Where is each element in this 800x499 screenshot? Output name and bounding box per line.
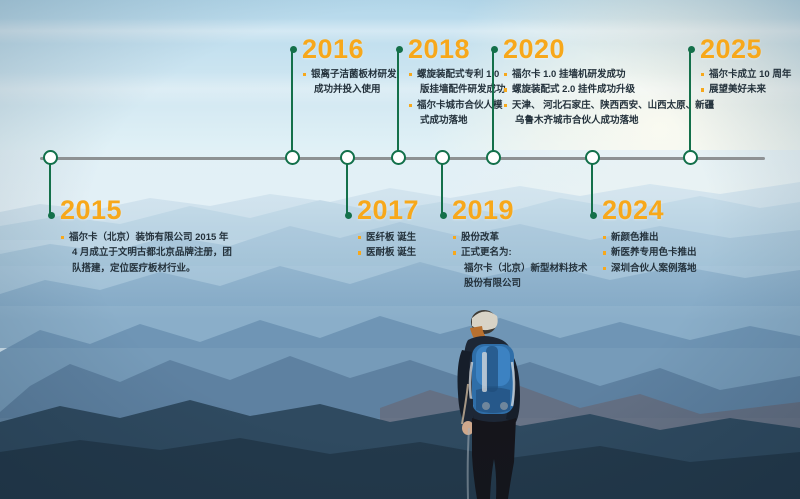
fact-item: 展望美好未来: [700, 82, 791, 97]
node-marker-ring[interactable]: [285, 150, 300, 165]
node-marker-ring[interactable]: [43, 150, 58, 165]
year-label-2016: 2016: [302, 36, 364, 63]
node-marker-ring[interactable]: [585, 150, 600, 165]
node-stem: [291, 50, 293, 158]
node-stem: [441, 158, 443, 215]
fact-line: 深圳合伙人案例落地: [611, 263, 697, 274]
fact-line: 4 月成立于文明古都北京品牌注册，团: [69, 245, 232, 260]
year-label-2020: 2020: [503, 36, 565, 63]
fact-list-2016: 银离子洁菌板材研发成功并投入使用: [302, 67, 397, 98]
fact-line: 股份改革: [461, 232, 499, 243]
fact-line: 福尔卡 1.0 挂墙机研发成功: [512, 69, 626, 80]
node-endpoint-dot: [48, 212, 55, 219]
fact-list-2020: 福尔卡 1.0 挂墙机研发成功螺旋装配式 2.0 挂件成功升级天津、 河北石家庄…: [503, 67, 714, 129]
fact-item: 正式更名为:福尔卡（北京）新型材料技术股份有限公司: [452, 245, 588, 291]
year-label-2024: 2024: [602, 197, 664, 224]
fact-line: 医纤板 诞生: [366, 232, 416, 243]
node-endpoint-dot: [345, 212, 352, 219]
node-stem: [689, 50, 691, 158]
fact-item: 医纤板 诞生: [357, 230, 416, 245]
year-label-2025: 2025: [700, 36, 762, 63]
node-endpoint-dot: [688, 46, 695, 53]
fact-line: 螺旋装配式专利 1.0: [417, 69, 499, 80]
node-endpoint-dot: [440, 212, 447, 219]
fact-line: 天津、 河北石家庄、陕西西安、山西太原、新疆: [512, 100, 714, 111]
fact-line: 新医养专用色卡推出: [611, 247, 697, 258]
node-marker-ring[interactable]: [683, 150, 698, 165]
fact-line: 成功并投入使用: [311, 82, 397, 97]
fact-line: 展望美好未来: [709, 84, 766, 95]
fact-line: 螺旋装配式 2.0 挂件成功升级: [512, 84, 635, 95]
fact-line: 福尔卡城市合伙人模: [417, 100, 503, 111]
node-marker-ring[interactable]: [340, 150, 355, 165]
year-label-2015: 2015: [60, 197, 122, 224]
fact-list-2018: 螺旋装配式专利 1.0版挂墙配件研发成功福尔卡城市合伙人模式成功落地: [408, 67, 506, 129]
fact-item: 新颜色推出: [602, 230, 697, 245]
year-label-2019: 2019: [452, 197, 514, 224]
node-marker-ring[interactable]: [435, 150, 450, 165]
fact-item: 福尔卡（北京）装饰有限公司 2015 年4 月成立于文明古都北京品牌注册，团队搭…: [60, 230, 232, 276]
fact-item: 深圳合伙人案例落地: [602, 261, 697, 276]
fact-list-2019: 股份改革正式更名为:福尔卡（北京）新型材料技术股份有限公司: [452, 230, 588, 292]
fact-line: 股份有限公司: [461, 276, 588, 291]
fact-list-2015: 福尔卡（北京）装饰有限公司 2015 年4 月成立于文明古都北京品牌注册，团队搭…: [60, 230, 232, 276]
fact-item: 福尔卡城市合伙人模式成功落地: [408, 98, 506, 129]
fact-item: 福尔卡 1.0 挂墙机研发成功: [503, 67, 714, 82]
node-endpoint-dot: [491, 46, 498, 53]
fact-line: 福尔卡成立 10 周年: [709, 69, 791, 80]
node-stem: [397, 50, 399, 158]
year-label-2018: 2018: [408, 36, 470, 63]
fact-item: 医耐板 诞生: [357, 245, 416, 260]
fact-line: 福尔卡（北京）装饰有限公司 2015 年: [69, 232, 228, 243]
fact-item: 新医养专用色卡推出: [602, 245, 697, 260]
node-stem: [591, 158, 593, 215]
node-marker-ring[interactable]: [486, 150, 501, 165]
node-endpoint-dot: [590, 212, 597, 219]
fact-list-2017: 医纤板 诞生医耐板 诞生: [357, 230, 416, 261]
node-endpoint-dot: [290, 46, 297, 53]
fact-item: 天津、 河北石家庄、陕西西安、山西太原、新疆乌鲁木齐城市合伙人成功落地: [503, 98, 714, 129]
fact-list-2024: 新颜色推出新医养专用色卡推出深圳合伙人案例落地: [602, 230, 697, 276]
year-label-2017: 2017: [357, 197, 419, 224]
node-marker-ring[interactable]: [391, 150, 406, 165]
node-stem: [49, 158, 51, 215]
node-endpoint-dot: [396, 46, 403, 53]
fact-line: 福尔卡（北京）新型材料技术: [461, 261, 588, 276]
fact-item: 螺旋装配式专利 1.0版挂墙配件研发成功: [408, 67, 506, 98]
fact-line: 医耐板 诞生: [366, 247, 416, 258]
node-stem: [492, 50, 494, 158]
fact-line: 银离子洁菌板材研发: [311, 69, 397, 80]
fact-line: 正式更名为:: [461, 247, 512, 258]
fact-item: 福尔卡成立 10 周年: [700, 67, 791, 82]
timeline-infographic: 2015福尔卡（北京）装饰有限公司 2015 年4 月成立于文明古都北京品牌注册…: [0, 0, 800, 499]
node-stem: [346, 158, 348, 215]
fact-item: 螺旋装配式 2.0 挂件成功升级: [503, 82, 714, 97]
fact-list-2025: 福尔卡成立 10 周年展望美好未来: [700, 67, 791, 98]
fact-item: 股份改革: [452, 230, 588, 245]
fact-line: 队搭建，定位医疗板材行业。: [69, 261, 232, 276]
fact-item: 银离子洁菌板材研发成功并投入使用: [302, 67, 397, 98]
fact-line: 新颜色推出: [611, 232, 659, 243]
fact-line: 乌鲁木齐城市合伙人成功落地: [512, 113, 714, 128]
